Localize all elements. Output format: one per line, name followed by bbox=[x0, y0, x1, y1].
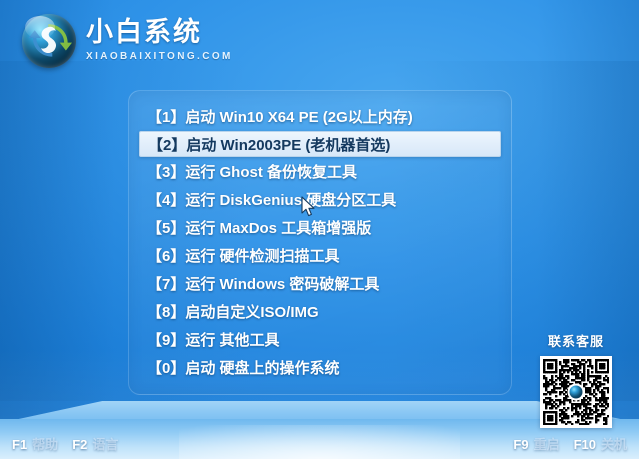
menu-item-4[interactable]: 【4】运行 DiskGenius 硬盘分区工具 bbox=[139, 186, 501, 213]
boot-menu-screen: 小白系统 XIAOBAIXITONG.COM 【1】启动 Win10 X64 P… bbox=[0, 0, 639, 459]
recycle-circle-logo-icon bbox=[22, 14, 76, 68]
menu-item-5[interactable]: 【5】运行 MaxDos 工具箱增强版 bbox=[139, 214, 501, 241]
contact-label: 联系客服 bbox=[533, 331, 619, 350]
menu-item-0[interactable]: 【0】启动 硬盘上的操作系统 bbox=[139, 354, 501, 381]
menu-item-2[interactable]: 【2】启动 Win2003PE (老机器首选) bbox=[139, 131, 501, 157]
menu-item-6[interactable]: 【6】运行 硬件检测扫描工具 bbox=[139, 242, 501, 269]
brand-header: 小白系统 XIAOBAIXITONG.COM bbox=[22, 14, 233, 68]
menu-item-1[interactable]: 【1】启动 Win10 X64 PE (2G以上内存) bbox=[139, 103, 501, 130]
menu-item-8[interactable]: 【8】启动自定义ISO/IMG bbox=[139, 298, 501, 325]
menu-item-9[interactable]: 【9】运行 其他工具 bbox=[139, 326, 501, 353]
qr-center-logo-icon bbox=[568, 384, 585, 401]
qr-code-icon[interactable] bbox=[540, 356, 612, 428]
menu-item-7[interactable]: 【7】运行 Windows 密码破解工具 bbox=[139, 270, 501, 297]
menu-item-3[interactable]: 【3】运行 Ghost 备份恢复工具 bbox=[139, 158, 501, 185]
brand-name-cn: 小白系统 bbox=[86, 19, 233, 46]
contact-block: 联系客服 bbox=[533, 331, 619, 428]
boot-menu-panel: 【1】启动 Win10 X64 PE (2G以上内存)【2】启动 Win2003… bbox=[128, 90, 512, 395]
brand-name-en: XIAOBAIXITONG.COM bbox=[86, 52, 233, 62]
